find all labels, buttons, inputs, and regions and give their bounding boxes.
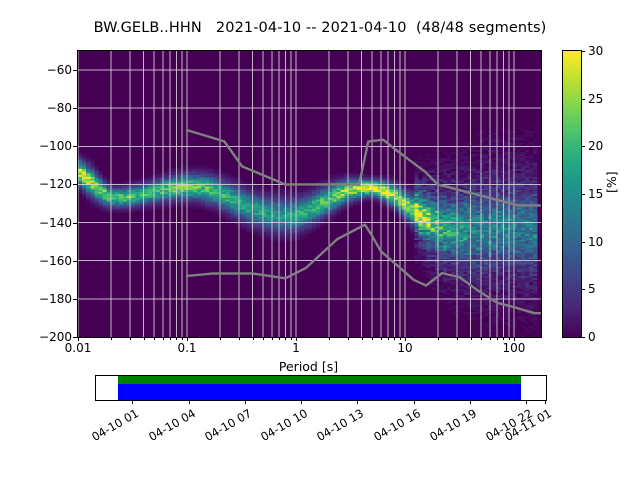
- timeline-tick-mark: [132, 400, 133, 404]
- colorbar-tick-label: 20: [588, 139, 603, 153]
- y-axis-tick-label: −100: [0, 139, 72, 153]
- timeline-tick-label: 04-10 01: [84, 406, 141, 447]
- colorbar-tick-mark: [581, 289, 585, 290]
- x-axis-tick-mark: [329, 337, 330, 340]
- timeline-tick-label: 04-10 04: [141, 406, 198, 447]
- y-axis-tick-mark: [73, 70, 77, 71]
- timeline-tick-mark: [526, 400, 527, 404]
- x-axis-tick-mark: [503, 337, 504, 340]
- x-axis-tick-label: 0.01: [65, 341, 92, 355]
- x-axis-tick-mark: [381, 337, 382, 340]
- x-axis-tick-mark: [239, 337, 240, 340]
- x-axis-tick-label: 10: [397, 341, 412, 355]
- x-axis-tick-mark: [481, 337, 482, 340]
- timeline-coverage-green: [118, 376, 521, 384]
- colorbar-tick-mark: [581, 242, 585, 243]
- x-axis-tick-label: 1: [292, 341, 300, 355]
- colorbar-tick-mark: [581, 194, 585, 195]
- colorbar[interactable]: [562, 50, 582, 338]
- x-axis-tick-mark: [285, 337, 286, 340]
- x-axis-tick-mark: [457, 337, 458, 340]
- x-axis-tick-mark: [400, 337, 401, 340]
- x-axis-tick-mark: [490, 337, 491, 340]
- colorbar-tick-label: 15: [588, 187, 603, 201]
- y-axis-tick-mark: [73, 108, 77, 109]
- timeline-tick-label: 04-10 07: [197, 406, 254, 447]
- x-axis-tick-mark: [130, 337, 131, 340]
- colorbar-tick-mark: [581, 337, 585, 338]
- x-axis-tick-mark: [279, 337, 280, 340]
- x-axis-tick-mark: [111, 337, 112, 340]
- colorbar-gradient: [563, 51, 581, 337]
- colorbar-tick-mark: [581, 99, 585, 100]
- x-axis-tick-mark: [394, 337, 395, 340]
- x-axis-tick-mark: [263, 337, 264, 340]
- y-axis-tick-mark: [73, 223, 77, 224]
- x-axis-tick-mark: [154, 337, 155, 340]
- y-axis-tick-label: −140: [0, 216, 72, 230]
- x-axis-tick-mark: [78, 337, 79, 341]
- y-axis-tick-label: −200: [0, 330, 72, 344]
- y-axis-tick-label: −60: [0, 63, 72, 77]
- y-axis-tick-label: −160: [0, 254, 72, 268]
- x-axis-tick-mark: [405, 337, 406, 341]
- colorbar-tick-mark: [581, 51, 585, 52]
- x-axis-tick-mark: [497, 337, 498, 340]
- colorbar-tick-label: 10: [588, 235, 603, 249]
- x-axis-tick-mark: [388, 337, 389, 340]
- colorbar-tick-label: 25: [588, 92, 603, 106]
- x-axis-tick-mark: [509, 337, 510, 340]
- ppsd-plot-area[interactable]: [77, 50, 542, 338]
- timeline-tick-label: 04-10 10: [253, 406, 310, 447]
- figure-title: BW.GELB..HHN 2021-04-10 -- 2021-04-10 (4…: [0, 20, 640, 36]
- x-axis-tick-mark: [291, 337, 292, 340]
- timeline-tick-mark: [189, 400, 190, 404]
- x-axis-tick-label: 0.1: [177, 341, 196, 355]
- timeline-tick-mark: [470, 400, 471, 404]
- x-axis-tick-mark: [348, 337, 349, 340]
- x-axis-tick-mark: [163, 337, 164, 340]
- timeline-coverage-bar[interactable]: [95, 375, 547, 401]
- y-axis-tick-mark: [73, 261, 77, 262]
- x-axis-tick-mark: [187, 337, 188, 341]
- colorbar-tick-label: 0: [588, 330, 596, 344]
- colorbar-label: [%]: [604, 153, 619, 193]
- x-axis-tick-mark: [170, 337, 171, 340]
- ppsd-figure: BW.GELB..HHN 2021-04-10 -- 2021-04-10 (4…: [0, 0, 640, 480]
- x-axis-tick-mark: [272, 337, 273, 340]
- y-axis-tick-label: −120: [0, 177, 72, 191]
- y-axis-tick-mark: [73, 337, 77, 338]
- timeline-tick-label: 04-10 19: [422, 406, 479, 447]
- timeline-tick-label: 04-10 13: [309, 406, 366, 447]
- x-axis-tick-mark: [253, 337, 254, 340]
- x-axis-tick-mark: [182, 337, 183, 340]
- x-axis-tick-mark: [296, 337, 297, 341]
- x-axis-tick-mark: [220, 337, 221, 340]
- timeline-tick-label: 04-10 16: [366, 406, 423, 447]
- timeline-tick-mark: [245, 400, 246, 404]
- colorbar-tick-mark: [581, 146, 585, 147]
- x-axis-tick-mark: [438, 337, 439, 340]
- colorbar-tick-label: 30: [588, 44, 603, 58]
- y-axis-tick-mark: [73, 146, 77, 147]
- x-axis-tick-mark: [372, 337, 373, 340]
- timeline-coverage-blue: [118, 384, 521, 400]
- x-axis-tick-mark: [471, 337, 472, 340]
- y-axis-tick-label: −180: [0, 292, 72, 306]
- colorbar-tick-label: 5: [588, 282, 596, 296]
- timeline-tick-mark: [545, 400, 546, 404]
- timeline-tick-mark: [357, 400, 358, 404]
- x-axis-tick-mark: [514, 337, 515, 341]
- x-axis-tick-mark: [176, 337, 177, 340]
- x-axis-label: Period [s]: [77, 359, 540, 374]
- ppsd-density-canvas: [78, 51, 541, 337]
- timeline-tick-mark: [301, 400, 302, 404]
- timeline-tick-mark: [414, 400, 415, 404]
- y-axis-tick-mark: [73, 299, 77, 300]
- y-axis-tick-label: −80: [0, 101, 72, 115]
- y-axis-tick-mark: [73, 184, 77, 185]
- x-axis-tick-mark: [144, 337, 145, 340]
- x-axis-tick-label: 100: [503, 341, 526, 355]
- x-axis-tick-mark: [362, 337, 363, 340]
